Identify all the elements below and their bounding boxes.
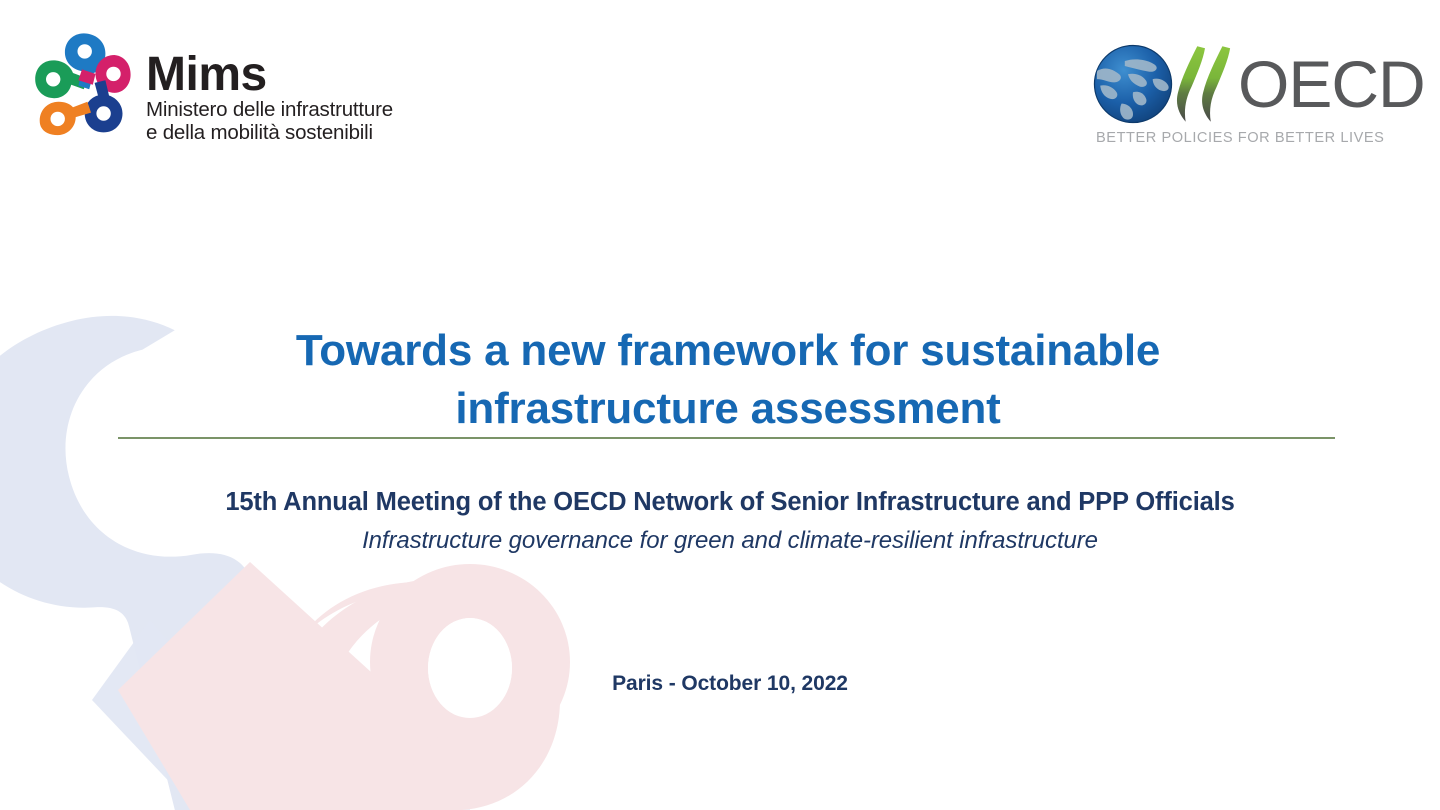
subtitle-italic: Infrastructure governance for green and … xyxy=(100,525,1360,557)
mims-pinwheel-nodes-icon xyxy=(28,28,136,136)
mims-name: Mims xyxy=(146,52,393,98)
mims-logo: Mims Ministero delle infrastrutture e de… xyxy=(28,26,393,145)
subtitle-main: 15th Annual Meeting of the OECD Network … xyxy=(100,486,1360,519)
watermark-blue-tail-icon xyxy=(92,620,470,810)
oecd-logo: OECD BETTER POLICIES FOR BETTER LIVES xyxy=(1092,40,1404,146)
title-divider xyxy=(118,437,1335,439)
title-slide: Mims Ministero delle infrastrutture e de… xyxy=(0,0,1440,810)
oecd-double-flame-icon xyxy=(1176,44,1234,124)
oecd-tagline: BETTER POLICIES FOR BETTER LIVES xyxy=(1096,130,1404,146)
page-title: Towards a new framework for sustainable … xyxy=(120,322,1336,438)
title-line-1: Towards a new framework for sustainable xyxy=(120,322,1336,380)
mims-wordmark: Mims Ministero delle infrastrutture e de… xyxy=(146,26,393,145)
oecd-globe-icon xyxy=(1092,43,1174,125)
subtitle-group: 15th Annual Meeting of the OECD Network … xyxy=(100,486,1360,558)
mims-node-orange-icon xyxy=(40,102,91,135)
mims-subtitle-line-1: Ministero delle infrastrutture xyxy=(146,98,393,122)
oecd-letters: OECD xyxy=(1238,51,1425,117)
mims-subtitle-line-2: e della mobilità sostenibili xyxy=(146,121,393,145)
oecd-mark-row: OECD xyxy=(1092,40,1404,128)
title-line-2: infrastructure assessment xyxy=(120,380,1336,438)
date-location-line: Paris - October 10, 2022 xyxy=(100,672,1360,696)
